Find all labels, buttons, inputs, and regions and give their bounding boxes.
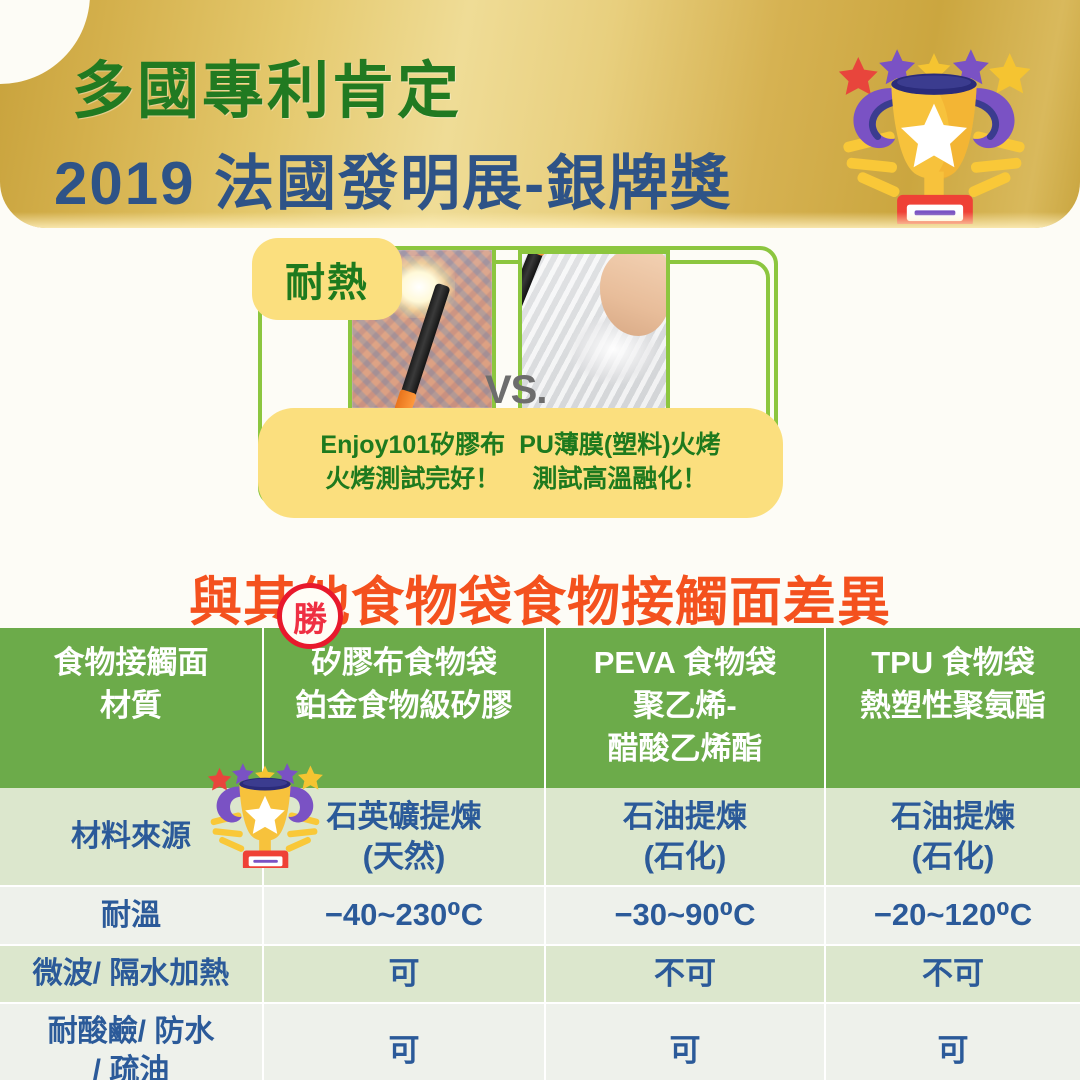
row-1-cell-2: −20~120⁰C xyxy=(825,886,1080,944)
row-1-label: 耐溫 xyxy=(0,886,263,944)
header-3-line-0: TPU 食物袋 xyxy=(832,642,1074,685)
row-3-label-line-1: / 疏油 xyxy=(4,1051,258,1080)
row-2-label: 微波/ 隔水加熱 xyxy=(0,945,263,1003)
row-3-label: 耐酸鹼/ 防水 / 疏油 xyxy=(0,1003,263,1080)
heat-resistance-comparison: VS. 耐熱 勝 Enjoy101矽膠布 火烤測試完好！ PU薄膜(塑料)火烤 … xyxy=(0,232,1080,542)
table-row: 耐溫 −40~230⁰C −30~90⁰C −20~120⁰C xyxy=(0,886,1080,944)
row-0-cell-2-line-0: 石油提煉 xyxy=(830,797,1076,837)
caption-left-line2: 火烤測試完好！ xyxy=(320,463,505,497)
table-row: 微波/ 隔水加熱 可 不可 不可 xyxy=(0,945,1080,1003)
poster-page: 多國專利肯定 2019 法國發明展-銀牌獎 xyxy=(0,0,1080,1080)
row-1-cell-0: −40~230⁰C xyxy=(263,886,545,944)
section-title: 與其他食物袋食物接觸面差異 xyxy=(0,560,1080,636)
caption-left: Enjoy101矽膠布 火烤測試完好！ xyxy=(320,429,505,497)
row-0-cell-2: 石油提煉 (石化) xyxy=(825,788,1080,886)
row-3-cell-2: 可 xyxy=(825,1003,1080,1080)
row-3-cell-2-line-0: 可 xyxy=(830,1031,1076,1071)
row-0-cell-2-line-1: (石化) xyxy=(830,837,1076,877)
banner-title-patent: 多國專利肯定 xyxy=(72,40,462,130)
row-1-cell-1: −30~90⁰C xyxy=(545,886,825,944)
award-banner: 多國專利肯定 2019 法國發明展-銀牌獎 xyxy=(0,0,1080,228)
banner-bottom-highlight xyxy=(0,212,1080,228)
header-2-line-1: 聚乙烯- xyxy=(552,685,818,728)
header-1-line-1: 鉑金食物級矽膠 xyxy=(270,685,538,728)
table-row: 材料來源 石英礦提煉 (天然) 石油提煉 (石化) 石油提煉 (石化) xyxy=(0,788,1080,886)
caption-left-line1: Enjoy101矽膠布 xyxy=(320,429,505,463)
table-row: 耐酸鹼/ 防水 / 疏油 可 可 可 xyxy=(0,1003,1080,1080)
caption-right: PU薄膜(塑料)火烤 測試高溫融化！ xyxy=(519,429,720,497)
heat-resistance-badge: 耐熱 xyxy=(252,238,402,320)
row-0-cell-1: 石油提煉 (石化) xyxy=(545,788,825,886)
header-0-line-1: 材質 xyxy=(6,685,256,728)
vs-label: VS. xyxy=(485,368,546,413)
row-0-cell-1-line-1: (石化) xyxy=(550,837,820,877)
row-3-cell-1-line-0: 可 xyxy=(550,1031,820,1071)
caption-right-line1: PU薄膜(塑料)火烤 xyxy=(519,429,720,463)
header-0-line-0: 食物接觸面 xyxy=(6,642,256,685)
row-2-cell-1: 不可 xyxy=(545,945,825,1003)
trophy-icon xyxy=(203,748,327,868)
table-header-cell-3: TPU 食物袋 熱塑性聚氨酯 xyxy=(825,628,1080,788)
comparison-table: 食物接觸面 材質 矽膠布食物袋 鉑金食物級矽膠 PEVA 食物袋 聚乙烯- 醋酸… xyxy=(0,628,1080,1080)
header-3-line-1: 熱塑性聚氨酯 xyxy=(832,685,1074,728)
row-3-cell-1: 可 xyxy=(545,1003,825,1080)
header-2-line-2: 醋酸乙烯酯 xyxy=(552,728,818,771)
table-header-row: 食物接觸面 材質 矽膠布食物袋 鉑金食物級矽膠 PEVA 食物袋 聚乙烯- 醋酸… xyxy=(0,628,1080,788)
win-badge: 勝 xyxy=(277,583,343,649)
caption-right-line2: 測試高溫融化！ xyxy=(519,463,720,497)
row-2-cell-0: 可 xyxy=(263,945,545,1003)
row-3-cell-0: 可 xyxy=(263,1003,545,1080)
header-2-line-0: PEVA 食物袋 xyxy=(552,642,818,685)
trophy-icon xyxy=(836,24,1032,224)
row-0-cell-1-line-0: 石油提煉 xyxy=(550,797,820,837)
row-3-cell-0-line-0: 可 xyxy=(268,1031,540,1071)
banner-title-award: 2019 法國發明展-銀牌獎 xyxy=(54,135,732,222)
row-3-label-line-0: 耐酸鹼/ 防水 xyxy=(4,1012,258,1051)
comparison-caption-box: Enjoy101矽膠布 火烤測試完好！ PU薄膜(塑料)火烤 測試高溫融化！ xyxy=(258,408,783,518)
row-2-cell-2: 不可 xyxy=(825,945,1080,1003)
table-header-cell-2: PEVA 食物袋 聚乙烯- 醋酸乙烯酯 xyxy=(545,628,825,788)
